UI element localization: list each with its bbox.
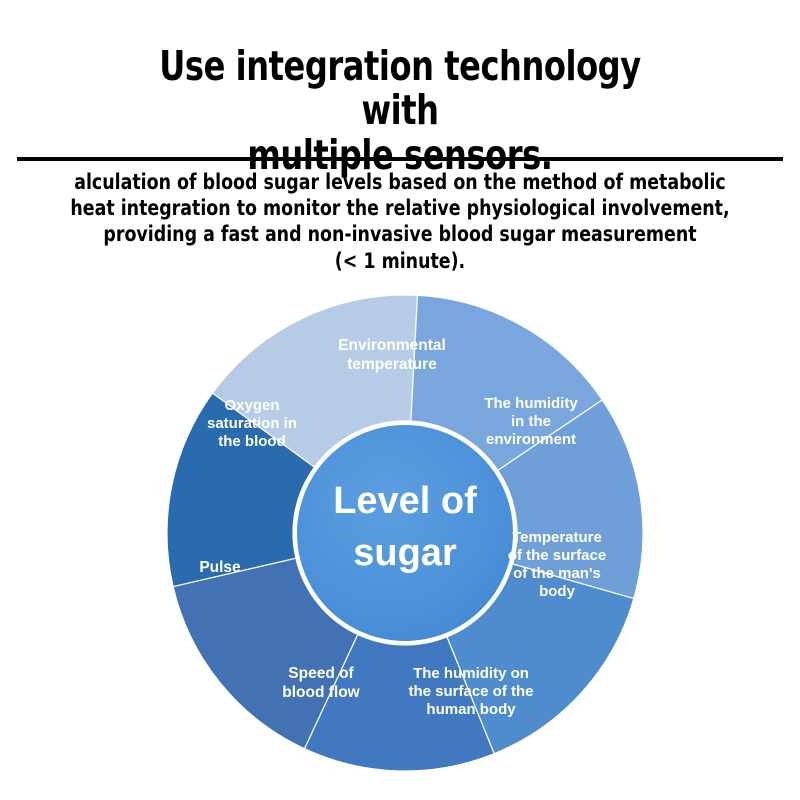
donut-chart-svg: EnvironmentaltemperatureThe humidityin t… xyxy=(166,288,644,778)
sensor-wheel-diagram: EnvironmentaltemperatureThe humidityin t… xyxy=(166,288,644,778)
segment-label-humidity-surface-human-body: The humidity onthe surface of thehuman b… xyxy=(408,665,533,718)
body-paragraph: alculation of blood sugar levels based o… xyxy=(45,170,756,275)
header-divider xyxy=(17,157,783,161)
slide-root: Use integration technology with multiple… xyxy=(0,0,800,800)
segment-label-pulse: Pulse xyxy=(199,559,241,576)
body-paragraph-block: alculation of blood sugar levels based o… xyxy=(0,170,800,275)
